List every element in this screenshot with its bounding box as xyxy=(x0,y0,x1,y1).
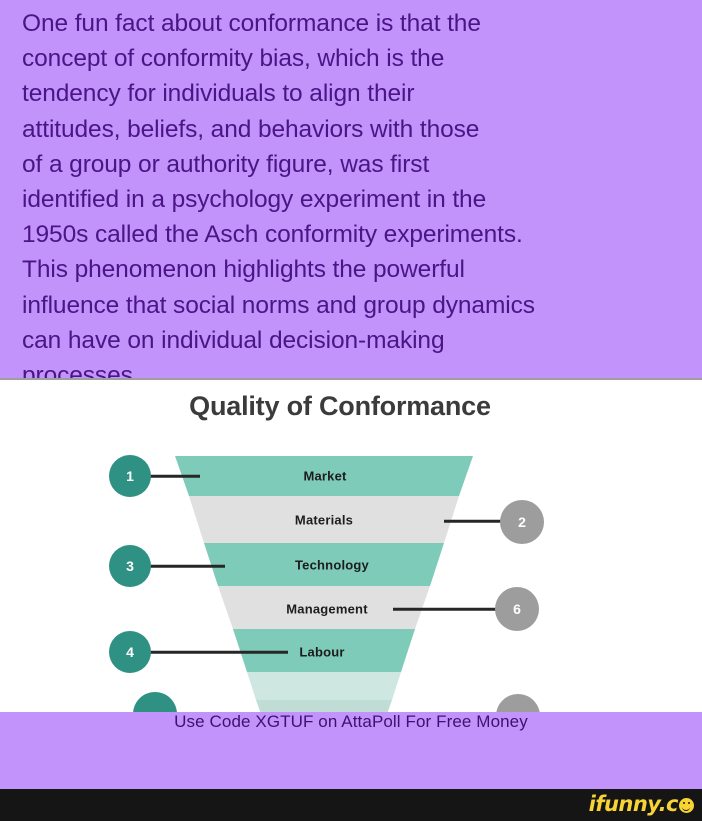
funnel-node-6[interactable]: 6 xyxy=(495,587,539,631)
leader-line-4 xyxy=(150,651,288,654)
smiley-icon xyxy=(679,798,694,813)
leader-line-1 xyxy=(150,475,200,478)
funnel-shape xyxy=(0,380,702,712)
funnel-label-materials: Materials xyxy=(295,513,353,528)
funnel-label-management: Management xyxy=(286,602,367,617)
post-body-text: One fun fact about conformance is that t… xyxy=(0,0,702,393)
ifunny-watermark: ifunny.c xyxy=(589,792,694,816)
leader-line-3 xyxy=(150,565,225,568)
leader-line-2 xyxy=(444,520,507,523)
embedded-diagram-image: Quality of Conformance xyxy=(0,378,702,712)
funnel-node-1[interactable]: 1 xyxy=(109,455,151,497)
funnel-label-labour: Labour xyxy=(299,645,344,660)
funnel-node-3[interactable]: 3 xyxy=(109,545,151,587)
ifunny-post: One fun fact about conformance is that t… xyxy=(0,0,702,821)
funnel-chart: Market Materials Technology Management L… xyxy=(0,380,702,712)
promo-caption: Use Code XGTUF on AttaPoll For Free Mone… xyxy=(0,712,702,732)
funnel-node-2[interactable]: 2 xyxy=(500,500,544,544)
funnel-label-market: Market xyxy=(303,469,346,484)
footer-bar: ifunny.c xyxy=(0,789,702,821)
funnel-label-technology: Technology xyxy=(295,558,369,573)
funnel-node-4[interactable]: 4 xyxy=(109,631,151,673)
funnel-band-bottom-cut xyxy=(256,700,392,712)
funnel-band-bottom-partial xyxy=(247,672,401,700)
leader-line-6 xyxy=(393,608,505,611)
watermark-text: ifunny.c xyxy=(589,792,678,816)
